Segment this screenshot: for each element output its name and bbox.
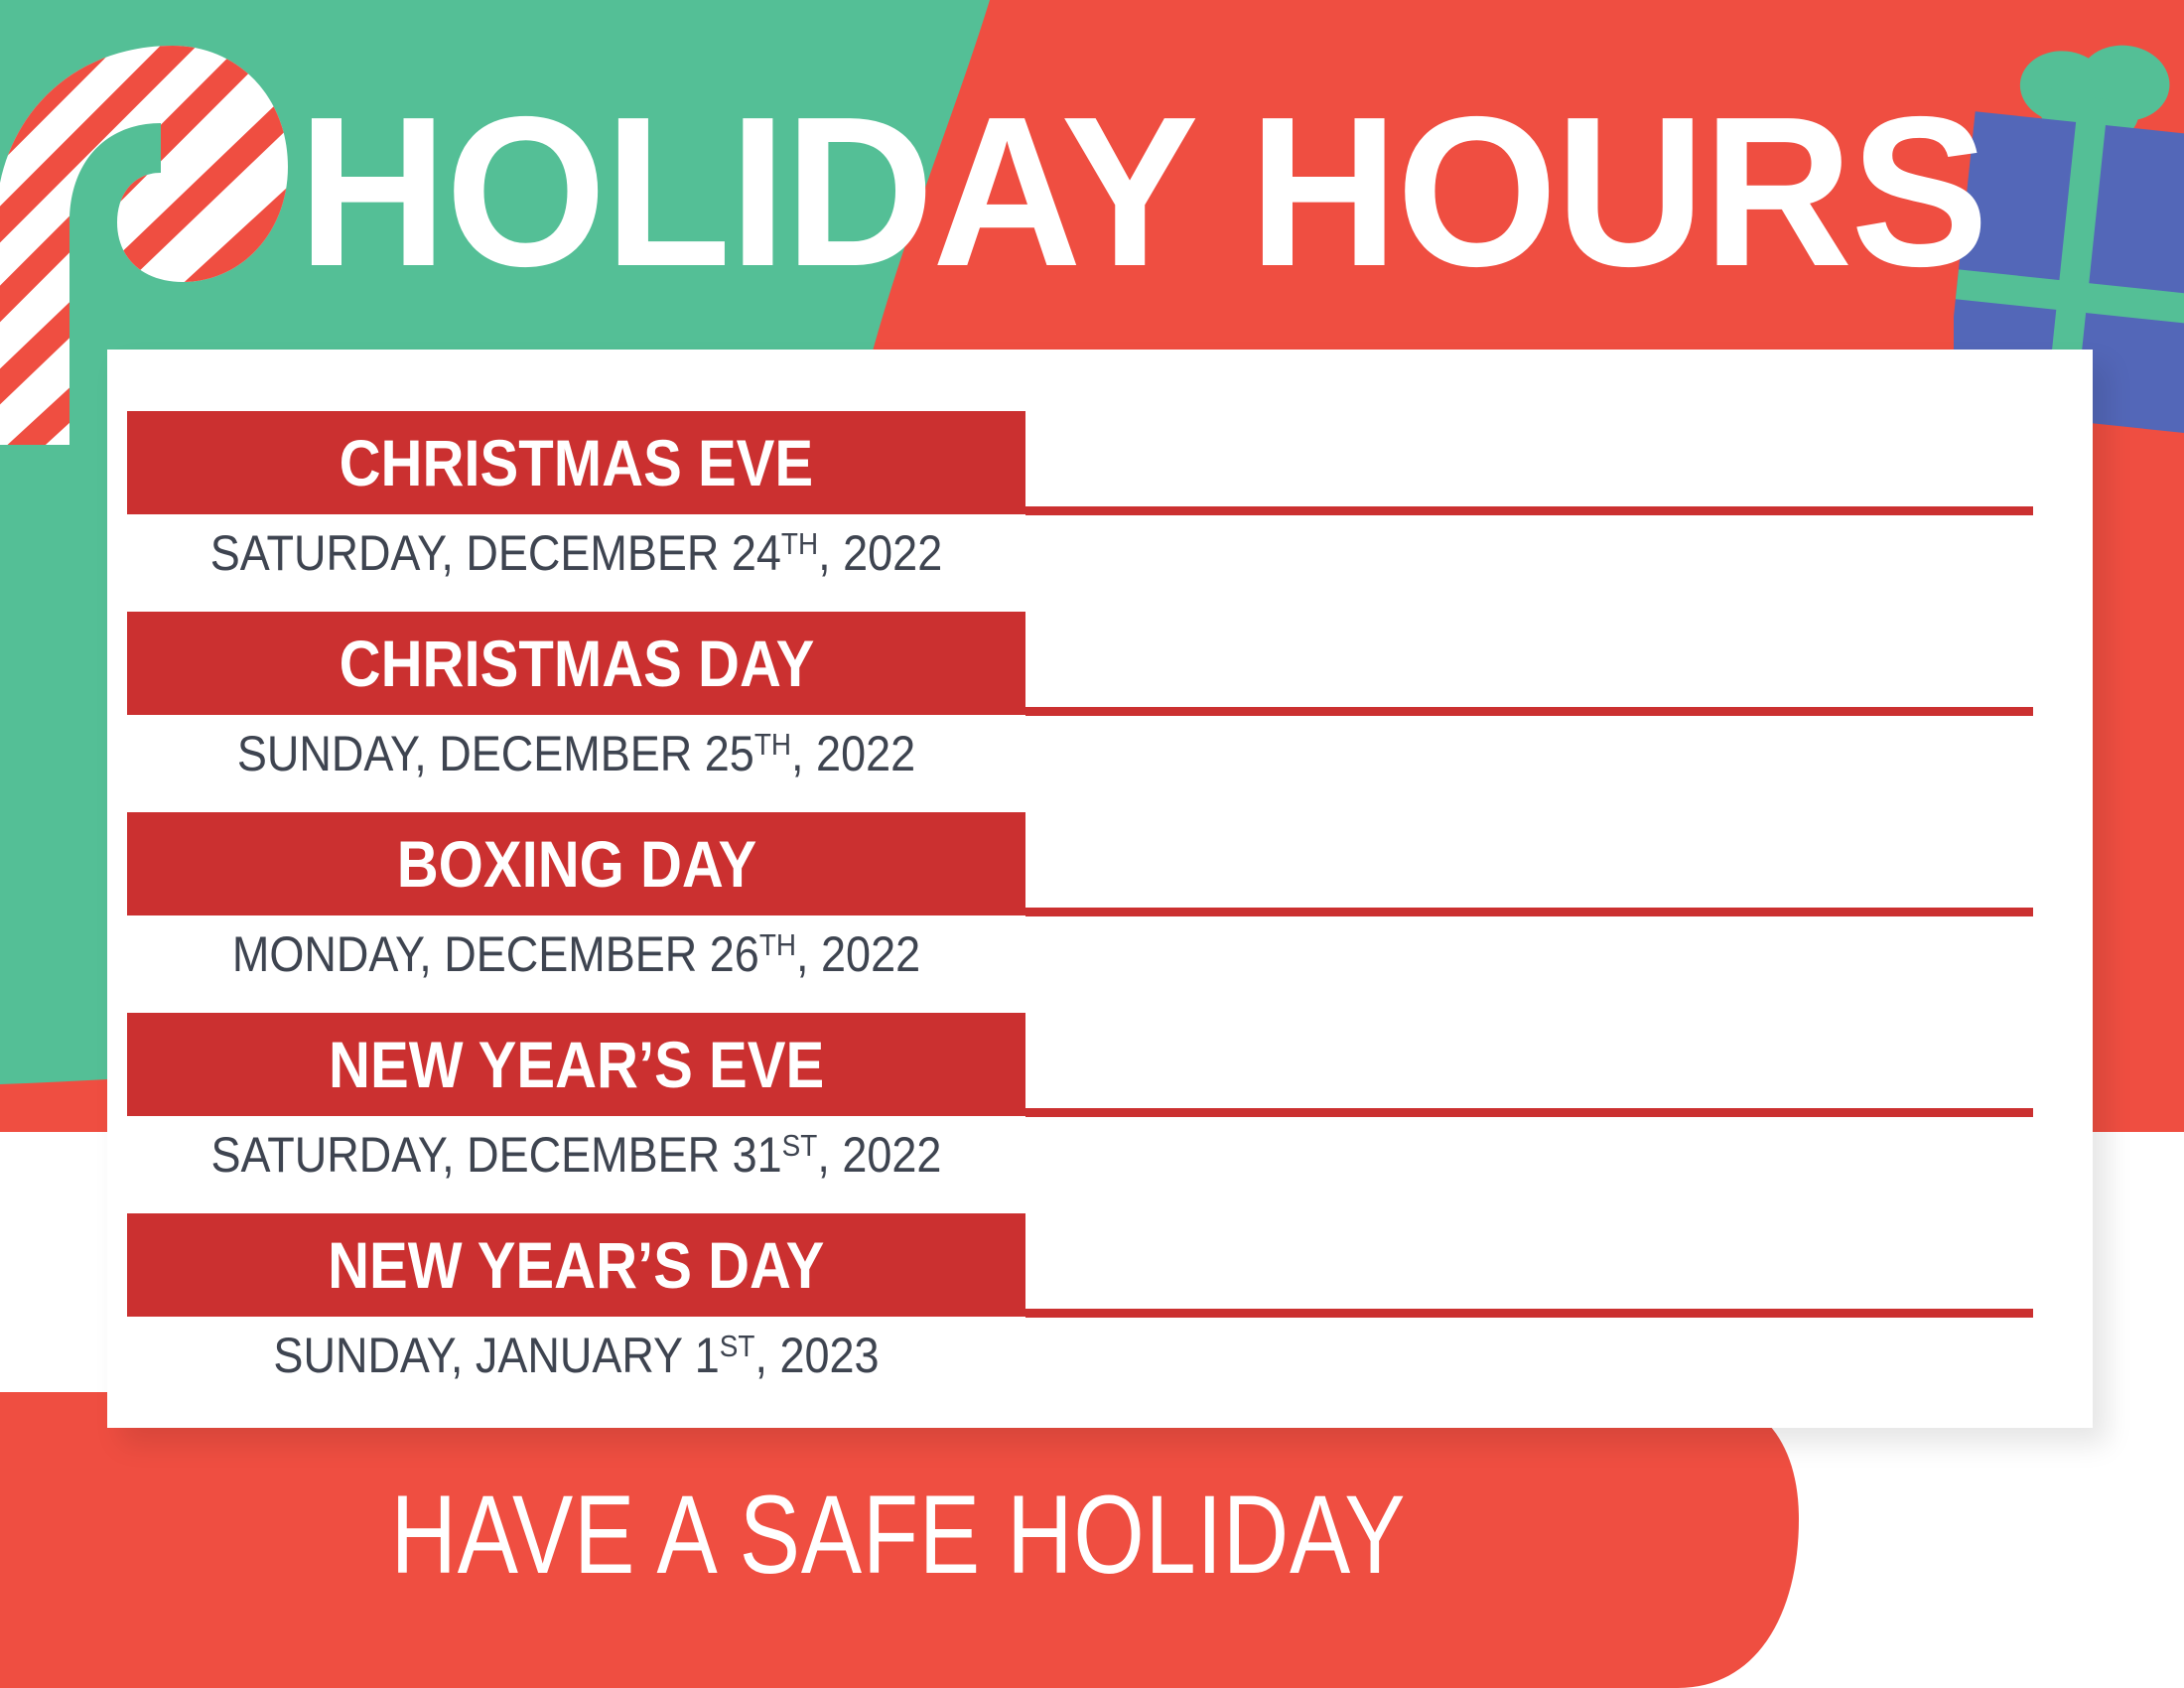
- holiday-date-suffix: , 2022: [796, 926, 920, 982]
- schedule-rows: CHRISTMAS EVESATURDAY, DECEMBER 24TH, 20…: [107, 350, 2093, 1428]
- holiday-date-prefix: SATURDAY, DECEMBER 31: [211, 1127, 782, 1183]
- holiday-name-bar: NEW YEAR’S EVE: [127, 1013, 1025, 1116]
- footer-tagline: HAVE A SAFE HOLIDAY: [162, 1472, 1635, 1599]
- holiday-name-bar: NEW YEAR’S DAY: [127, 1213, 1025, 1317]
- holiday-date-suffix: , 2022: [817, 1127, 941, 1183]
- holiday-date-ordinal: TH: [754, 727, 791, 762]
- hours-writein-rule[interactable]: [1025, 908, 2033, 916]
- holiday-name-label: NEW YEAR’S EVE: [329, 1032, 824, 1097]
- hours-writein-rule[interactable]: [1025, 1108, 2033, 1117]
- holiday-date-prefix: MONDAY, DECEMBER 26: [232, 926, 759, 982]
- page-title: HOLIDAY HOURS: [298, 77, 1877, 306]
- schedule-row: NEW YEAR’S EVESATURDAY, DECEMBER 31ST, 2…: [107, 1013, 2093, 1213]
- schedule-row: CHRISTMAS EVESATURDAY, DECEMBER 24TH, 20…: [107, 411, 2093, 612]
- schedule-row: NEW YEAR’S DAYSUNDAY, JANUARY 1ST, 2023: [107, 1213, 2093, 1414]
- holiday-date-ordinal: ST: [720, 1329, 755, 1363]
- schedule-card: CHRISTMAS EVESATURDAY, DECEMBER 24TH, 20…: [107, 350, 2093, 1428]
- holiday-name-label: CHRISTMAS DAY: [339, 631, 814, 696]
- schedule-row: BOXING DAYMONDAY, DECEMBER 26TH, 2022: [107, 812, 2093, 1013]
- holiday-date-ordinal: ST: [782, 1128, 818, 1163]
- hours-writein-rule[interactable]: [1025, 506, 2033, 515]
- holiday-date-ordinal: TH: [781, 526, 818, 561]
- holiday-date-suffix: , 2022: [818, 525, 942, 581]
- holiday-date-ordinal: TH: [759, 927, 796, 962]
- holiday-name-bar: BOXING DAY: [127, 812, 1025, 915]
- holiday-date: SATURDAY, DECEMBER 31ST, 2022: [172, 1124, 981, 1186]
- holiday-name-label: BOXING DAY: [396, 831, 756, 897]
- holiday-date-prefix: SUNDAY, JANUARY 1: [273, 1328, 719, 1383]
- holiday-name-label: CHRISTMAS EVE: [340, 430, 814, 495]
- holiday-date-suffix: , 2023: [754, 1328, 879, 1383]
- holiday-name-bar: CHRISTMAS DAY: [127, 612, 1025, 715]
- holiday-hours-poster: HOLIDAY HOURS CHRISTMAS EVESATURDAY, DEC…: [0, 0, 2184, 1688]
- hours-writein-rule[interactable]: [1025, 707, 2033, 716]
- holiday-name-bar: CHRISTMAS EVE: [127, 411, 1025, 514]
- holiday-date: SATURDAY, DECEMBER 24TH, 2022: [172, 522, 981, 584]
- holiday-date-prefix: SUNDAY, DECEMBER 25: [237, 726, 754, 781]
- hours-writein-rule[interactable]: [1025, 1309, 2033, 1318]
- holiday-date: SUNDAY, DECEMBER 25TH, 2022: [172, 723, 981, 784]
- holiday-date: SUNDAY, JANUARY 1ST, 2023: [172, 1325, 981, 1386]
- schedule-row: CHRISTMAS DAYSUNDAY, DECEMBER 25TH, 2022: [107, 612, 2093, 812]
- holiday-date-prefix: SATURDAY, DECEMBER 24: [210, 525, 781, 581]
- holiday-date: MONDAY, DECEMBER 26TH, 2022: [172, 923, 981, 985]
- holiday-name-label: NEW YEAR’S DAY: [328, 1232, 824, 1298]
- holiday-date-suffix: , 2022: [791, 726, 915, 781]
